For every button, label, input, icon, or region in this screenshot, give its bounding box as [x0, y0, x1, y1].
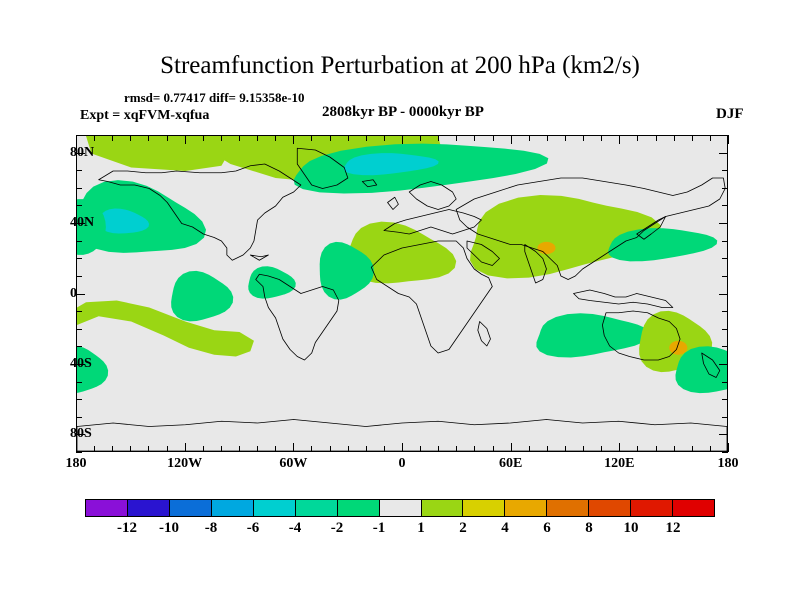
colorbar-swatch[interactable]	[296, 500, 338, 516]
x-tick	[293, 443, 294, 452]
x-tick	[76, 443, 77, 452]
x-tick	[547, 135, 548, 141]
colorbar-tick: -1	[373, 520, 386, 537]
x-tick	[583, 135, 584, 141]
y-tick	[722, 346, 728, 347]
x-tick	[112, 446, 113, 452]
x-tick	[293, 135, 294, 144]
colorbar-tick: 1	[417, 520, 425, 537]
x-tick	[728, 135, 729, 144]
coastline-path	[250, 255, 268, 260]
y-tick	[76, 170, 82, 171]
y-tick	[722, 452, 728, 453]
x-tick	[366, 135, 367, 141]
x-tick	[529, 135, 530, 141]
x-tick	[493, 446, 494, 452]
x-tick	[148, 446, 149, 452]
y-tick	[76, 346, 82, 347]
world-map-svg	[77, 136, 727, 451]
colorbar-tick: -2	[331, 520, 344, 537]
colorbar-swatch[interactable]	[338, 500, 380, 516]
x-tick	[674, 446, 675, 452]
x-tick	[402, 135, 403, 144]
y-tick	[76, 188, 82, 189]
x-tick	[330, 446, 331, 452]
y-tick	[722, 170, 728, 171]
y-tick	[76, 205, 82, 206]
x-tick	[130, 135, 131, 141]
x-tick	[493, 135, 494, 141]
x-tick	[420, 135, 421, 141]
contour-shading-layer	[77, 136, 727, 393]
y-tick	[719, 434, 728, 435]
y-tick	[76, 452, 82, 453]
y-tick	[76, 276, 82, 277]
x-tick	[257, 446, 258, 452]
x-tick	[474, 446, 475, 452]
colorbar-swatch[interactable]	[631, 500, 673, 516]
colorbar-swatch[interactable]	[589, 500, 631, 516]
x-tick	[257, 135, 258, 141]
x-tick	[221, 135, 222, 141]
x-tick	[185, 135, 186, 144]
x-tick	[366, 446, 367, 452]
x-tick	[203, 446, 204, 452]
colorbar-swatch[interactable]	[128, 500, 170, 516]
central-america-negative-region	[248, 266, 295, 298]
map-plot-area	[76, 135, 728, 452]
colorbar-tick: -4	[289, 520, 302, 537]
indian-ocean-negative-region	[536, 313, 649, 357]
x-axis-label: 120W	[167, 456, 202, 472]
figure-canvas: Streamfunction Perturbation at 200 hPa (…	[0, 0, 800, 600]
y-tick	[76, 258, 82, 259]
y-tick	[722, 188, 728, 189]
x-tick	[348, 446, 349, 452]
x-tick	[221, 446, 222, 452]
x-tick	[420, 446, 421, 452]
x-axis-label: 180	[66, 456, 87, 472]
colorbar-tick: -8	[205, 520, 218, 537]
x-tick	[167, 135, 168, 141]
x-tick	[637, 135, 638, 141]
colorbar-swatch[interactable]	[254, 500, 296, 516]
x-tick	[402, 443, 403, 452]
x-tick	[384, 446, 385, 452]
x-tick	[619, 135, 620, 144]
colorbar-swatch[interactable]	[547, 500, 589, 516]
experiment-annotation: Expt = xqFVM-xqfua	[80, 108, 209, 124]
season-annotation: DJF	[716, 106, 744, 123]
colorbar-tick: -10	[159, 520, 179, 537]
x-tick	[275, 135, 276, 141]
coastline-path	[574, 290, 673, 308]
x-axis-label: 60E	[499, 456, 522, 472]
colorbar-swatch[interactable]	[673, 500, 714, 516]
colorbar-swatch[interactable]	[170, 500, 212, 516]
x-tick	[656, 446, 657, 452]
x-axis-label: 0	[399, 456, 406, 472]
central-asia-positive-core	[537, 242, 555, 254]
page-title: Streamfunction Perturbation at 200 hPa (…	[0, 52, 800, 80]
y-tick	[76, 382, 82, 383]
japan-negative-region	[608, 228, 717, 261]
y-tick	[722, 399, 728, 400]
y-tick	[76, 417, 82, 418]
east-australia-positive-core	[669, 341, 687, 355]
y-tick	[722, 258, 728, 259]
y-tick	[76, 294, 85, 295]
x-tick	[311, 135, 312, 141]
colorbar-tick: 10	[624, 520, 639, 537]
x-tick	[76, 135, 77, 144]
y-tick	[719, 364, 728, 365]
colorbar-tick: 12	[666, 520, 681, 537]
x-tick	[384, 135, 385, 141]
x-tick	[583, 446, 584, 452]
x-tick	[112, 135, 113, 141]
colorbar-swatch[interactable]	[463, 500, 505, 516]
y-tick	[722, 135, 728, 136]
x-tick	[438, 446, 439, 452]
east-pacific-negative-region	[171, 271, 233, 321]
colorbar-tick: 8	[585, 520, 593, 537]
x-tick	[692, 135, 693, 141]
y-tick	[719, 294, 728, 295]
x-tick	[239, 446, 240, 452]
colorbar-swatch[interactable]	[86, 500, 128, 516]
x-tick	[656, 135, 657, 141]
x-tick	[565, 446, 566, 452]
y-tick	[722, 417, 728, 418]
x-tick	[710, 446, 711, 452]
y-tick	[76, 135, 82, 136]
x-tick	[330, 135, 331, 141]
x-tick	[148, 135, 149, 141]
x-tick	[203, 135, 204, 141]
x-tick	[547, 446, 548, 452]
x-tick	[185, 443, 186, 452]
x-tick	[674, 135, 675, 141]
colorbar-swatch[interactable]	[422, 500, 464, 516]
colorbar-swatch[interactable]	[505, 500, 547, 516]
arctic-positive-west	[86, 136, 230, 171]
y-tick	[722, 276, 728, 277]
coastline-path	[478, 322, 491, 347]
y-tick	[76, 241, 82, 242]
x-tick	[167, 446, 168, 452]
x-tick	[728, 443, 729, 452]
colorbar-tick: -6	[247, 520, 260, 537]
x-tick	[511, 135, 512, 144]
colorbar-tick: -12	[117, 520, 137, 537]
y-tick	[722, 311, 728, 312]
y-tick	[722, 382, 728, 383]
x-axis-label: 60W	[279, 456, 307, 472]
x-tick	[311, 446, 312, 452]
x-tick	[456, 446, 457, 452]
x-tick	[637, 446, 638, 452]
x-tick	[474, 135, 475, 141]
colorbar-tick: 4	[501, 520, 509, 537]
x-tick	[601, 135, 602, 141]
x-tick	[348, 135, 349, 141]
period-annotation: 2808kyr BP - 0000kyr BP	[322, 104, 484, 121]
x-tick	[438, 135, 439, 141]
y-tick	[719, 153, 728, 154]
colorbar-tick: 6	[543, 520, 551, 537]
y-tick	[722, 205, 728, 206]
colorbar-swatch[interactable]	[212, 500, 254, 516]
x-axis-label: 180	[718, 456, 739, 472]
colorbar-swatch[interactable]	[380, 500, 422, 516]
y-tick	[722, 241, 728, 242]
x-tick	[565, 135, 566, 141]
x-tick	[529, 446, 530, 452]
x-tick	[601, 446, 602, 452]
y-tick	[76, 329, 82, 330]
x-tick	[456, 135, 457, 141]
x-tick	[275, 446, 276, 452]
y-tick	[719, 223, 728, 224]
coastline-path	[388, 197, 399, 209]
x-tick	[692, 446, 693, 452]
x-tick	[94, 135, 95, 141]
rmsd-annotation: rmsd= 0.77417 diff= 9.15358e-10	[124, 90, 305, 106]
y-tick	[76, 311, 82, 312]
y-tick	[76, 399, 82, 400]
x-tick	[130, 446, 131, 452]
x-tick	[619, 443, 620, 452]
x-tick	[239, 135, 240, 141]
x-tick	[94, 446, 95, 452]
colorbar-tick: 2	[459, 520, 467, 537]
x-tick	[710, 135, 711, 141]
y-tick	[722, 329, 728, 330]
x-axis-label: 120E	[604, 456, 634, 472]
x-tick	[511, 443, 512, 452]
colorbar[interactable]	[85, 499, 715, 517]
